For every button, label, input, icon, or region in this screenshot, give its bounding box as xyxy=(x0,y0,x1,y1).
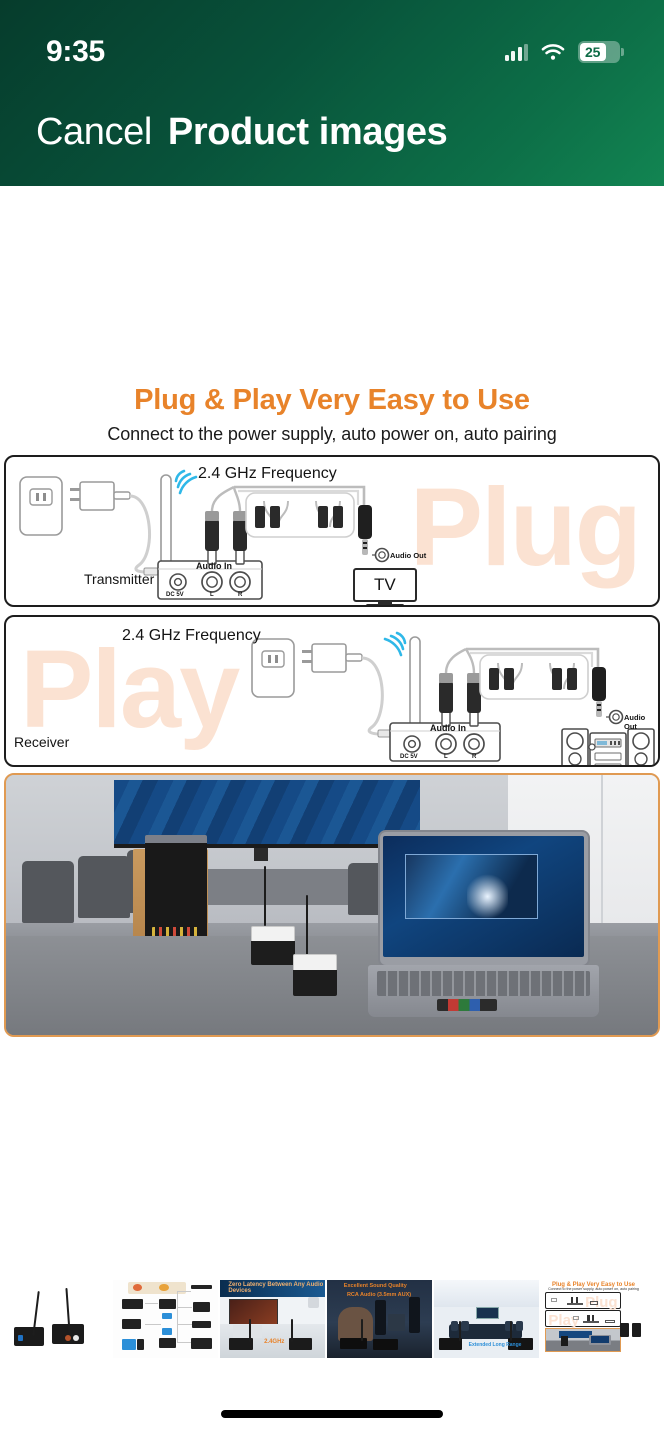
play-diagram-svg xyxy=(6,617,660,765)
dc5v-label-play: DC 5V xyxy=(400,754,418,760)
audio-in-label-plug: Audio In xyxy=(196,561,232,571)
left-channel-label-play: L xyxy=(444,754,448,760)
conference-room-photo-panel xyxy=(4,773,660,1037)
tv-label: TV xyxy=(374,575,396,595)
thumbnail-4-title: Excellent Sound Quality xyxy=(344,1283,407,1289)
transmitter-label: Transmitter xyxy=(84,571,154,587)
product-subheading: Connect to the power supply, auto power … xyxy=(0,424,664,445)
status-bar: 9:35 25 xyxy=(0,30,664,74)
battery-icon: 25 xyxy=(578,41,620,63)
audio-out-label-play: Audio Out xyxy=(624,713,658,731)
frequency-label-play: 2.4 GHz Frequency xyxy=(122,627,261,645)
receiver-label: Receiver xyxy=(14,734,69,750)
stereo-system-icon xyxy=(562,729,654,765)
thumbnail-6-side-devices xyxy=(620,1323,643,1343)
wifi-icon xyxy=(541,43,565,61)
laptop xyxy=(378,830,590,968)
app-header: 9:35 25 Can xyxy=(0,0,664,186)
left-channel-label-plug: L xyxy=(210,592,214,598)
frequency-label-plug: 2.4 GHz Frequency xyxy=(198,465,337,483)
wifi-arcs-icon-play xyxy=(385,633,405,655)
thumbnail-4-sub: RCA Audio (3.5mm AUX) xyxy=(347,1292,411,1298)
thumbnail-6-sub: Connect to the power supply, auto power … xyxy=(547,1287,639,1291)
thumbnail-5[interactable]: Extended Long Range xyxy=(434,1280,539,1358)
thumbnail-3[interactable]: Zero Latency Between Any Audio Devices 2… xyxy=(220,1280,325,1358)
image-stage[interactable]: Plug & Play Very Easy to Use Connect to … xyxy=(0,186,664,1258)
right-channel-label-plug: R xyxy=(238,592,242,598)
play-diagram-panel: Play xyxy=(4,615,660,767)
thumbnail-strip[interactable]: Zero Latency Between Any Audio Devices 2… xyxy=(0,1280,664,1364)
right-channel-label-play: R xyxy=(472,754,476,760)
thumbnail-6[interactable]: Plug & Play Very Easy to Use Connect to … xyxy=(541,1280,646,1358)
cellular-signal-icon xyxy=(505,44,529,61)
plug-diagram-panel: Plug xyxy=(4,455,660,607)
home-indicator xyxy=(221,1410,443,1418)
thumbnail-5-caption: Extended Long Range xyxy=(469,1342,522,1348)
product-image-sheet: Plug & Play Very Easy to Use Connect to … xyxy=(0,380,664,1246)
audio-in-label-play: Audio In xyxy=(430,723,466,733)
dc5v-label-plug: DC 5V xyxy=(166,592,184,598)
product-images-screen: 9:35 25 Can xyxy=(0,0,664,1440)
page-title: Product images xyxy=(168,113,447,151)
thumbnail-4[interactable]: Excellent Sound Quality RCA Audio (3.5mm… xyxy=(327,1280,432,1358)
nav-bar: Cancel Product images xyxy=(0,96,664,168)
status-icons: 25 xyxy=(505,41,621,63)
thumbnail-2[interactable] xyxy=(113,1280,218,1358)
thumbnail-1[interactable] xyxy=(6,1280,111,1358)
audio-out-label-plug: Audio Out xyxy=(390,551,426,560)
wifi-arcs-icon xyxy=(176,471,196,493)
thumbnail-6-ghost-play: Play xyxy=(548,1313,579,1328)
thumbnail-3-badge: 2.4GHz xyxy=(264,1339,284,1345)
status-time: 9:35 xyxy=(46,35,105,69)
battery-percent: 25 xyxy=(578,44,620,60)
thumbnail-3-banner: Zero Latency Between Any Audio Devices xyxy=(228,1282,325,1294)
cancel-button[interactable]: Cancel xyxy=(36,113,152,151)
product-heading: Plug & Play Very Easy to Use xyxy=(0,384,664,417)
